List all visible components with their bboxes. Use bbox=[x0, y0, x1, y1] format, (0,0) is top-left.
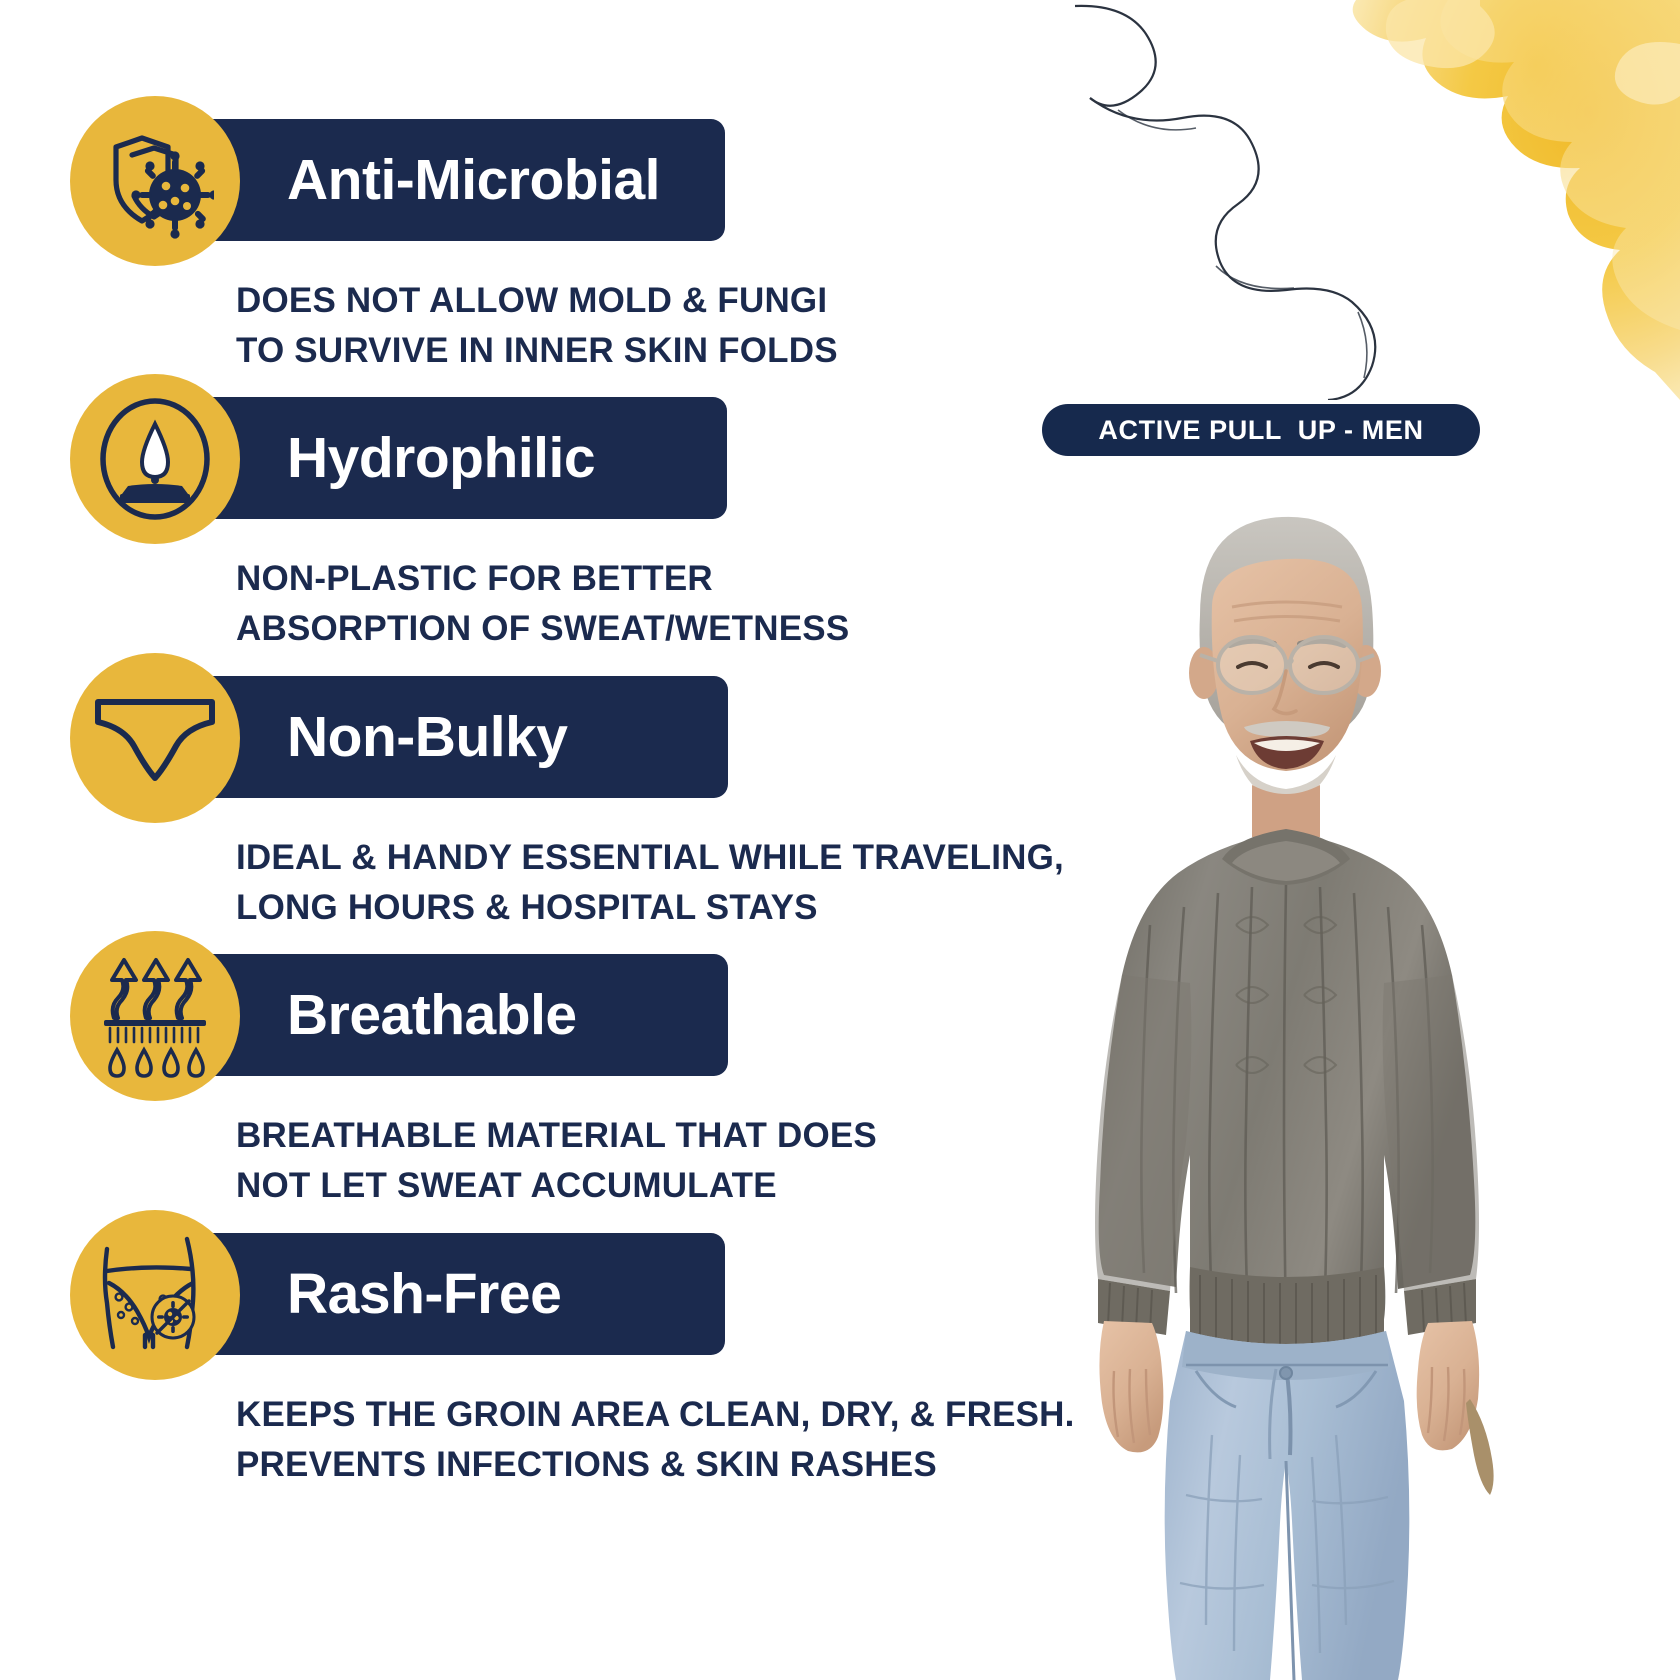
feature-icon-badge bbox=[70, 1210, 240, 1380]
watercolor-splash-decoration bbox=[920, 0, 1680, 400]
active-pull-up-men-badge: ACTIVE PULL UP - MEN bbox=[1042, 404, 1480, 456]
feature-title-bar: Anti-Microbial bbox=[195, 119, 725, 241]
feature-title: Anti-Microbial bbox=[195, 147, 660, 213]
feature-title: Non-Bulky bbox=[195, 704, 568, 770]
feature-description-line: BREATHABLE MATERIAL THAT DOES bbox=[236, 1111, 877, 1161]
feature-description: DOES NOT ALLOW MOLD & FUNGI TO SURVIVE I… bbox=[236, 276, 838, 377]
airflow-arrows-droplets-icon bbox=[96, 952, 214, 1080]
feature-description: KEEPS THE GROIN AREA CLEAN, DRY, & FRESH… bbox=[236, 1390, 1075, 1491]
feature-title-bar: Non-Bulky bbox=[195, 676, 728, 798]
badge-label: ACTIVE PULL UP - MEN bbox=[1098, 415, 1423, 446]
feature-description-line: ABSORPTION OF SWEAT/WETNESS bbox=[236, 604, 849, 654]
water-droplet-absorb-icon bbox=[94, 398, 216, 520]
feature-description: NON-PLASTIC FOR BETTER ABSORPTION OF SWE… bbox=[236, 554, 849, 655]
feature-description-line: KEEPS THE GROIN AREA CLEAN, DRY, & FRESH… bbox=[236, 1390, 1075, 1440]
feature-description-line: LONG HOURS & HOSPITAL STAYS bbox=[236, 883, 1064, 933]
feature-title-bar: Breathable bbox=[195, 954, 728, 1076]
hips-underwear-no-germ-icon bbox=[91, 1231, 219, 1359]
brief-underwear-icon bbox=[90, 688, 220, 788]
feature-title: Rash-Free bbox=[195, 1261, 561, 1327]
feature-title-bar: Rash-Free bbox=[195, 1233, 725, 1355]
feature-icon-badge bbox=[70, 931, 240, 1101]
feature-title: Breathable bbox=[195, 982, 577, 1048]
feature-list: Anti-Microbial bbox=[0, 0, 1010, 1680]
feature-icon-badge bbox=[70, 96, 240, 266]
feature-icon-badge bbox=[70, 374, 240, 544]
feature-description-line: TO SURVIVE IN INNER SKIN FOLDS bbox=[236, 326, 838, 376]
feature-title: Hydrophilic bbox=[195, 425, 595, 491]
shield-virus-icon bbox=[96, 122, 214, 240]
feature-description-line: IDEAL & HANDY ESSENTIAL WHILE TRAVELING, bbox=[236, 833, 1064, 883]
feature-description: BREATHABLE MATERIAL THAT DOES NOT LET SW… bbox=[236, 1111, 877, 1212]
feature-description: IDEAL & HANDY ESSENTIAL WHILE TRAVELING,… bbox=[236, 833, 1064, 934]
feature-description-line: NON-PLASTIC FOR BETTER bbox=[236, 554, 849, 604]
feature-description-line: DOES NOT ALLOW MOLD & FUNGI bbox=[236, 276, 838, 326]
feature-description-line: NOT LET SWEAT ACCUMULATE bbox=[236, 1161, 877, 1211]
feature-icon-badge bbox=[70, 653, 240, 823]
elderly-man-photo bbox=[1000, 455, 1680, 1680]
feature-title-bar: Hydrophilic bbox=[195, 397, 727, 519]
feature-description-line: PREVENTS INFECTIONS & SKIN RASHES bbox=[236, 1440, 1075, 1490]
